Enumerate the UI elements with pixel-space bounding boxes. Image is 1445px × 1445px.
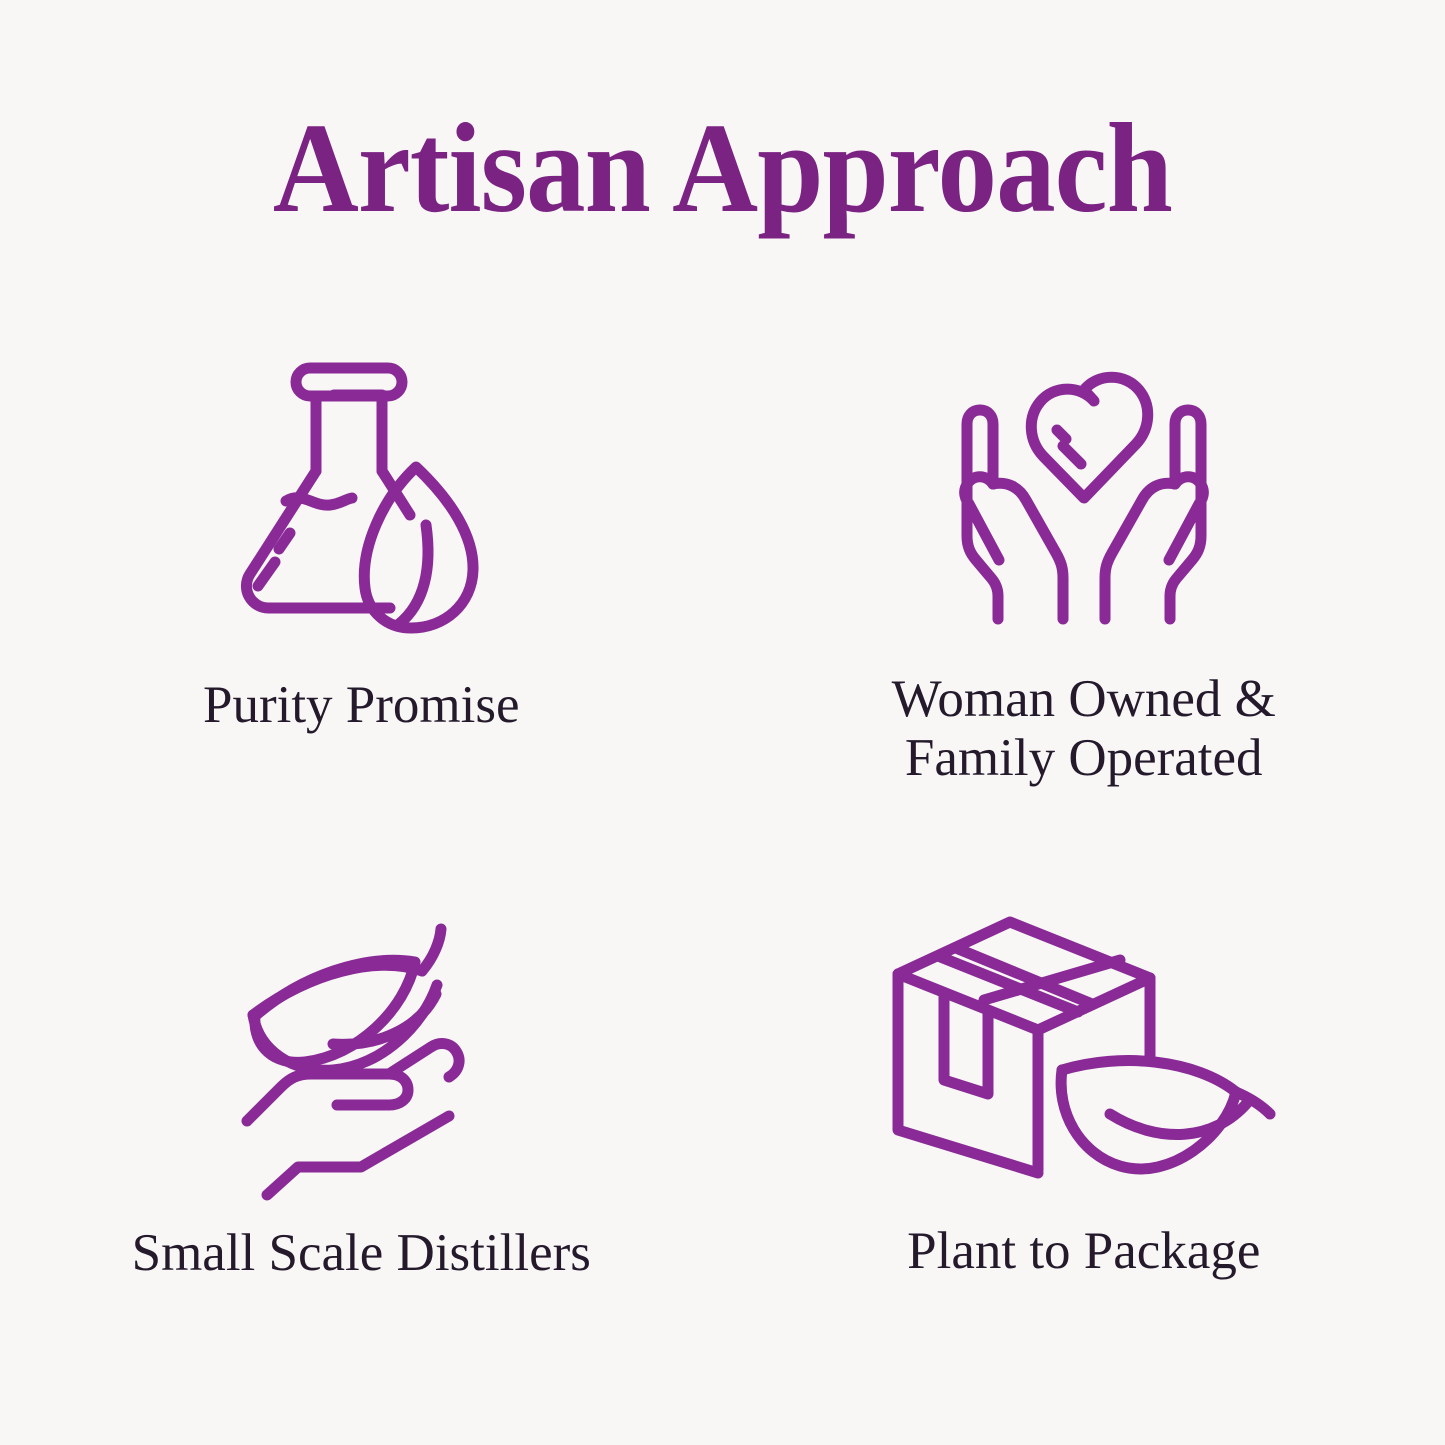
leaf-in-hand-icon (211, 912, 511, 1182)
feature-label: Purity Promise (203, 676, 520, 735)
feature-item-woman-owned: Woman Owned & Family Operated (723, 330, 1445, 860)
hands-holding-heart-icon (934, 350, 1234, 640)
feature-label: Woman Owned & Family Operated (892, 670, 1276, 789)
feature-label-line1: Small Scale Distillers (132, 1224, 591, 1282)
page-title-container: Artisan Approach (0, 104, 1445, 232)
artisan-approach-panel: Artisan Approach (0, 0, 1445, 1445)
feature-label-line1: Plant to Package (907, 1222, 1260, 1280)
flask-leaf-icon (211, 344, 511, 634)
feature-label: Small Scale Distillers (132, 1224, 591, 1283)
feature-grid: Purity Promise (0, 330, 1445, 1390)
feature-label: Plant to Package (907, 1222, 1260, 1281)
page-title: Artisan Approach (273, 104, 1172, 232)
feature-item-purity-promise: Purity Promise (0, 330, 723, 860)
box-leaf-icon (934, 908, 1234, 1178)
feature-label-line1: Woman Owned & (892, 670, 1276, 728)
feature-item-small-scale-distillers: Small Scale Distillers (0, 860, 723, 1390)
feature-label-line1: Purity Promise (203, 676, 520, 734)
feature-label-line2: Family Operated (892, 729, 1276, 788)
feature-item-plant-to-package: Plant to Package (723, 860, 1445, 1390)
